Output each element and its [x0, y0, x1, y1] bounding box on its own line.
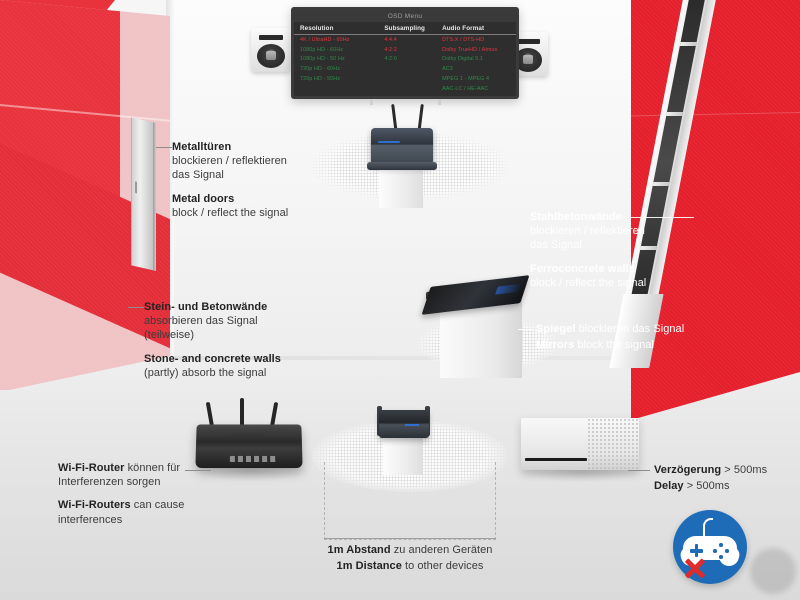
osd-table-row: 720p HD - 50HzMPEG 1 - MPEG 4 — [294, 74, 516, 84]
callout-ferroconcrete-de: Stahlbetonwände blockieren / reflektiere… — [530, 210, 710, 253]
osd-cell-subsampling — [378, 64, 436, 74]
callout-mirrors-de-title: Spiegel — [536, 323, 575, 335]
callout-delay-en-title: Delay — [654, 480, 684, 492]
speaker-port-icon — [516, 39, 540, 44]
game-console — [521, 418, 639, 470]
leader-line-delay — [628, 470, 650, 471]
callout-metal-doors-de: Metalltüren blockieren / reflektieren da… — [172, 140, 332, 183]
door-handle — [135, 181, 137, 193]
callout-ferroconcrete-en-title: Ferroconcrete walls — [530, 263, 635, 275]
callout-distance-de: 1m Abstand zu anderen Geräten — [318, 543, 502, 557]
leader-line-metal-doors — [156, 147, 172, 148]
gamepad-button — [725, 549, 729, 553]
metal-door-gap — [153, 122, 156, 271]
osd-cell-subsampling: 4:2:0 — [378, 55, 436, 65]
window-mullion — [666, 112, 683, 116]
callout-wifi-routers-de-rest: können für — [125, 462, 181, 474]
gamepad-button — [719, 555, 723, 559]
callout-ferroconcrete-de-line1: blockieren / reflektieren — [530, 225, 645, 237]
window-mullion — [680, 42, 697, 46]
wall-speaker-left — [251, 28, 291, 72]
osd-cell-subsampling: 4:2:2 — [378, 45, 436, 55]
callout-wifi-routers-de: Wi-Fi-Router können für Interferenzen so… — [58, 461, 208, 489]
callout-stone-walls-en: Stone- and concrete walls (partly) absor… — [144, 352, 334, 380]
callout-metal-doors: Metalltüren blockieren / reflektieren da… — [172, 140, 332, 220]
no-gaming-badge — [673, 510, 747, 584]
callout-wifi-routers-en-line2: interferences — [58, 514, 122, 526]
osd-cell-audioformat: DTS:X / DTS-HD — [436, 35, 516, 45]
callout-distance: 1m Abstand zu anderen Geräten 1m Distanc… — [318, 543, 502, 573]
osd-cell-subsampling: 4:4:4 — [378, 35, 436, 45]
callout-stone-walls-en-title: Stone- and concrete walls — [144, 353, 281, 365]
osd-cell-resolution: 720p HD - 60Hz — [294, 64, 378, 74]
router-base — [367, 162, 437, 170]
callout-delay-en: Delay > 500ms — [654, 479, 794, 493]
big-wifi-router — [195, 424, 302, 468]
callout-mirrors-en-rest: block the signal — [574, 339, 654, 351]
osd-table-row: 1080p HD - 50 Hz4:2:0Dolby Digital 5.1 — [294, 55, 516, 65]
callout-ferroconcrete-de-title: Stahlbetonwände — [530, 211, 622, 223]
infographic-scene: OSD Menu Resolution Subsampling Audio Fo… — [0, 0, 800, 600]
osd-cell-audioformat: Dolby TrueHD / Atmos — [436, 45, 516, 55]
leader-line-stone-walls — [128, 307, 144, 308]
speaker-cone-icon — [257, 44, 285, 68]
osd-table-row: 720p HD - 60HzAC3 — [294, 64, 516, 74]
callout-metal-doors-de-title: Metalltüren — [172, 141, 231, 153]
gamepad-cord-icon — [703, 518, 713, 536]
callout-mirrors-en-title: Mirrors — [536, 339, 574, 351]
osd-cell-audioformat: AAC-LC / HE-AAC — [436, 84, 516, 94]
metal-door — [131, 117, 155, 271]
pedestal-top — [379, 166, 423, 208]
callout-distance-de-title: 1m Abstand — [328, 544, 391, 556]
osd-table-row: 4K / UltraHD - 60Hz4:4:4DTS:X / DTS-HD — [294, 35, 516, 45]
callout-wifi-routers-en-rest: can cause — [131, 499, 185, 511]
callout-wifi-routers-de-line2: Interferenzen sorgen — [58, 476, 161, 488]
osd-cell-audioformat: AC3 — [436, 64, 516, 74]
callout-stone-walls: Stein- und Betonwände absorbieren das Si… — [144, 300, 334, 380]
osd-cell-subsampling — [378, 84, 436, 94]
wifi-router-top — [371, 128, 433, 166]
callout-metal-doors-de-line1: blockieren / reflektieren — [172, 155, 287, 167]
callout-ferroconcrete-en-line1: block / reflect the signal — [530, 277, 646, 289]
callout-delay-de-rest: > 500ms — [721, 464, 767, 476]
callout-distance-en: 1m Distance to other devices — [318, 559, 502, 573]
callout-wifi-routers-en: Wi-Fi-Routers can cause interferences — [58, 498, 208, 526]
callout-metal-doors-en: Metal doors block / reflect the signal — [172, 192, 332, 220]
callout-mirrors-de: Spiegel blockieren das Signal — [536, 322, 736, 336]
wifi-router-bottom — [379, 410, 429, 438]
callout-metal-doors-en-title: Metal doors — [172, 193, 234, 205]
osd-cell-resolution: 4K / UltraHD - 60Hz — [294, 35, 378, 45]
tv-screen: OSD Menu Resolution Subsampling Audio Fo… — [294, 10, 516, 96]
red-x-icon — [683, 556, 707, 580]
callout-stone-walls-de-title: Stein- und Betonwände — [144, 301, 267, 313]
television: OSD Menu Resolution Subsampling Audio Fo… — [291, 7, 519, 99]
callout-delay-en-rest: > 500ms — [684, 480, 730, 492]
osd-table-row: 1080p HD - 60Hz4:2:2Dolby TrueHD / Atmos — [294, 45, 516, 55]
osd-column-subsampling: Subsampling — [378, 22, 436, 35]
distance-measure-line — [324, 538, 496, 539]
callout-stone-walls-de: Stein- und Betonwände absorbieren das Si… — [144, 300, 334, 343]
osd-column-resolution: Resolution — [294, 22, 378, 35]
callout-delay-de-title: Verzögerung — [654, 464, 721, 476]
osd-menu-title: OSD Menu — [294, 10, 516, 22]
callout-metal-doors-en-line1: block / reflect the signal — [172, 207, 288, 219]
console-vent-grille — [587, 418, 639, 470]
callout-wifi-routers-de-title: Wi-Fi-Router — [58, 462, 125, 474]
console-disc-slot — [525, 458, 587, 461]
gamepad-button — [713, 549, 717, 553]
osd-specs-table: Resolution Subsampling Audio Format 4K /… — [294, 22, 516, 94]
speaker-port-icon — [259, 35, 283, 40]
callout-mirrors: Spiegel blockieren das Signal Mirrors bl… — [536, 322, 736, 352]
callout-wifi-routers: Wi-Fi-Router können für Interferenzen so… — [58, 461, 208, 527]
badge-shadow — [750, 548, 796, 594]
router-lan-ports — [230, 456, 276, 462]
osd-cell-resolution: 720p HD - 50Hz — [294, 74, 378, 84]
osd-cell-audioformat: Dolby Digital 5.1 — [436, 55, 516, 65]
callout-stone-walls-de-line2: (teilweise) — [144, 329, 194, 341]
tv-stand-left — [370, 99, 373, 105]
callout-mirrors-en: Mirrors block the signal — [536, 338, 736, 352]
osd-column-audioformat: Audio Format — [436, 22, 516, 35]
osd-cell-resolution: 1080p HD - 50 Hz — [294, 55, 378, 65]
callout-metal-doors-de-line2: das Signal — [172, 169, 224, 181]
callout-distance-de-rest: zu anderen Geräten — [391, 544, 493, 556]
tv-stand-right — [438, 99, 441, 105]
window-mullion — [653, 182, 670, 186]
router-led-strip — [378, 141, 400, 143]
osd-cell-resolution — [294, 84, 378, 94]
mirror-cabinet — [440, 300, 522, 378]
mini-router-led — [405, 424, 419, 426]
distance-measure-box — [324, 462, 496, 540]
callout-delay-de: Verzögerung > 500ms — [654, 463, 794, 477]
callout-ferroconcrete-en: Ferroconcrete walls block / reflect the … — [530, 262, 710, 290]
callout-distance-en-title: 1m Distance — [337, 560, 402, 572]
callout-mirrors-de-rest: blockieren das Signal — [575, 323, 684, 335]
leader-line-mirrors — [518, 329, 532, 330]
callout-stone-walls-de-line1: absorbieren das Signal — [144, 315, 258, 327]
callout-ferroconcrete-de-line2: das Signal — [530, 239, 582, 251]
osd-cell-resolution: 1080p HD - 60Hz — [294, 45, 378, 55]
osd-cell-subsampling — [378, 74, 436, 84]
osd-cell-audioformat: MPEG 1 - MPEG 4 — [436, 74, 516, 84]
callout-ferroconcrete: Stahlbetonwände blockieren / reflektiere… — [530, 210, 710, 290]
osd-table-row: AAC-LC / HE-AAC — [294, 84, 516, 94]
osd-table-header-row: Resolution Subsampling Audio Format — [294, 22, 516, 35]
mirror-reflection — [495, 284, 520, 295]
callout-wifi-routers-en-title: Wi-Fi-Routers — [58, 499, 131, 511]
callout-distance-en-rest: to other devices — [402, 560, 484, 572]
gamepad-button — [719, 543, 723, 547]
callout-delay: Verzögerung > 500ms Delay > 500ms — [654, 463, 794, 493]
callout-stone-walls-en-line1: (partly) absorb the signal — [144, 367, 266, 379]
